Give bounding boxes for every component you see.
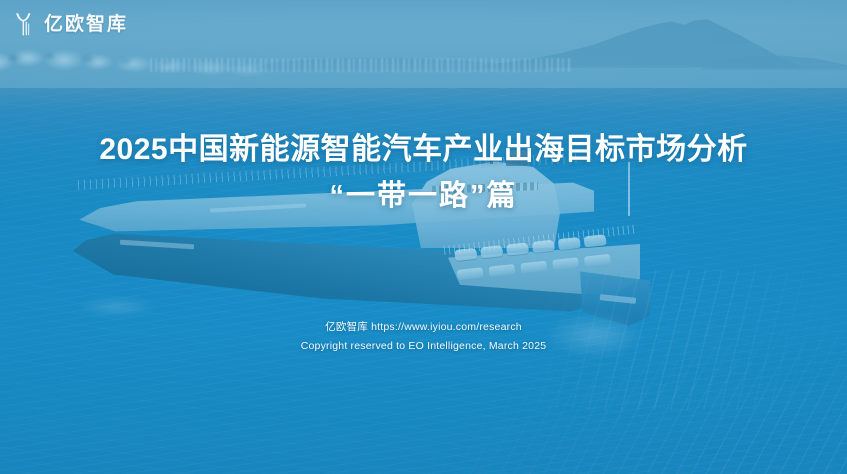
cover-footer: 亿欧智库 https://www.iyiou.com/research Copy… [0,318,847,356]
report-cover-slide: 亿欧智库 2025中国新能源智能汽车产业出海目标市场分析 “一带一路”篇 亿欧智… [0,0,847,474]
cover-title-block: 2025中国新能源智能汽车产业出海目标市场分析 “一带一路”篇 [0,128,847,218]
report-title: 2025中国新能源智能汽车产业出海目标市场分析 [40,128,807,172]
footer-copyright: Copyright reserved to EO Intelligence, M… [0,337,847,356]
report-subtitle: “一带一路”篇 [40,174,807,218]
brand-logo[interactable]: 亿欧智库 [14,11,128,37]
footer-source-url[interactable]: 亿欧智库 https://www.iyiou.com/research [0,318,847,337]
cover-background-photo [0,0,847,474]
blue-vignette-overlay [0,0,847,474]
yiou-y-mark-icon [14,11,38,37]
brand-logo-text: 亿欧智库 [44,15,128,34]
